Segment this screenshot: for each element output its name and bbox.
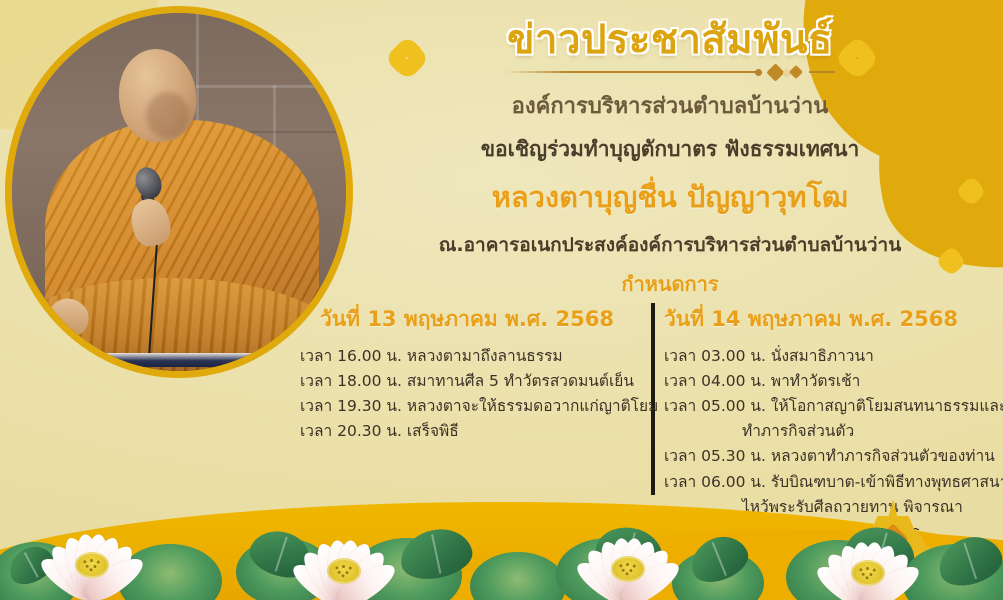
- lotus-leaf-icon: [3, 539, 60, 591]
- schedule-item: เวลา 05.30 น. หลวงตาทำภารกิจส่วนตัวของท่…: [664, 444, 990, 469]
- lotus-leaf-icon: [672, 550, 764, 600]
- schedule-item: เวลา 20.30 น. เสร็จพิธี: [300, 419, 634, 444]
- monk-face-shadow: [146, 92, 189, 139]
- schedule-item: เวลา 18.00 น. สมาทานศีล 5 ทำวัตรสวดมนต์เ…: [300, 369, 634, 394]
- schedule-item: เวลา 19.30 น. หลวงตาจะให้ธรรมดอวากแก่ญาต…: [300, 394, 634, 419]
- poster-canvas: ข่าวประชาสัมพันธ์ องค์การบริหารส่วนตำบลบ…: [0, 0, 1003, 600]
- lotus-leaf-icon: [118, 544, 222, 600]
- lotus-leaf-icon: [236, 538, 332, 600]
- lotus-flower-icon: [24, 496, 160, 600]
- lotus-leaf-icon: [786, 540, 890, 600]
- poster-header: ข่าวประชาสัมพันธ์ องค์การบริหารส่วนตำบลบ…: [360, 18, 980, 300]
- wall-line-icon: [196, 85, 346, 88]
- agenda-heading: กำหนดการ: [360, 268, 980, 300]
- floor-mat-shape: [32, 353, 326, 367]
- schedule-item: อาหาร อนุโมทนาบุญให้พร: [664, 520, 990, 545]
- title-underline-ornament: [505, 66, 835, 78]
- schedule-section: วันที่ 13 พฤษภาคม พ.ศ. 2568 เวลา 16.00 น…: [300, 303, 990, 545]
- lotus-leaf-icon: [902, 544, 1003, 600]
- schedule-item: เวลา 06.00 น. รับบิณฑบาต-เข้าพิธีทางพุทธ…: [664, 470, 990, 495]
- lotus-leaf-icon: [352, 538, 462, 600]
- schedule-item: ทำภารกิจส่วนตัว: [664, 419, 990, 444]
- schedule-item: ไหว้พระรับศีลถวายทาน พิจารณา: [664, 495, 990, 520]
- lotus-leaf-icon: [556, 538, 660, 600]
- lotus-leaf-icon: [470, 552, 566, 600]
- invitation-text: ขอเชิญร่วมทำบุญตักบาตร ฟังธรรมเทศนา: [360, 133, 980, 166]
- schedule-column-day2: วันที่ 14 พฤษภาคม พ.ศ. 2568 เวลา 03.00 น…: [648, 303, 990, 545]
- page-title: ข่าวประชาสัมพันธ์: [360, 18, 980, 62]
- schedule-item: เวลา 16.00 น. หลวงตามาถึงลานธรรม: [300, 344, 634, 369]
- schedule-item: เวลา 04.00 น. พาทำวัตรเช้า: [664, 369, 990, 394]
- schedule-date-heading: วันที่ 14 พฤษภาคม พ.ศ. 2568: [664, 303, 990, 336]
- schedule-column-day1: วันที่ 13 พฤษภาคม พ.ศ. 2568 เวลา 16.00 น…: [300, 303, 648, 545]
- monk-name: หลวงตาบุญชื่น ปัญญาวุทโฒ: [360, 174, 980, 220]
- schedule-date-heading: วันที่ 13 พฤษภาคม พ.ศ. 2568: [300, 303, 634, 336]
- venue-text: ณ.อาคารอเนกประสงค์องค์การบริหารส่วนตำบลบ…: [360, 230, 980, 260]
- organization-name: องค์การบริหารส่วนตำบลบ้านว่าน: [360, 88, 980, 123]
- lotus-leaf-icon: [0, 542, 80, 600]
- wall-line-icon: [196, 13, 199, 128]
- schedule-item: เวลา 05.00 น. ให้โอกาสญาติโยมสนทนาธรรมแล…: [664, 394, 990, 419]
- schedule-item: เวลา 03.00 น. นั่งสมาธิภาวนา: [664, 344, 990, 369]
